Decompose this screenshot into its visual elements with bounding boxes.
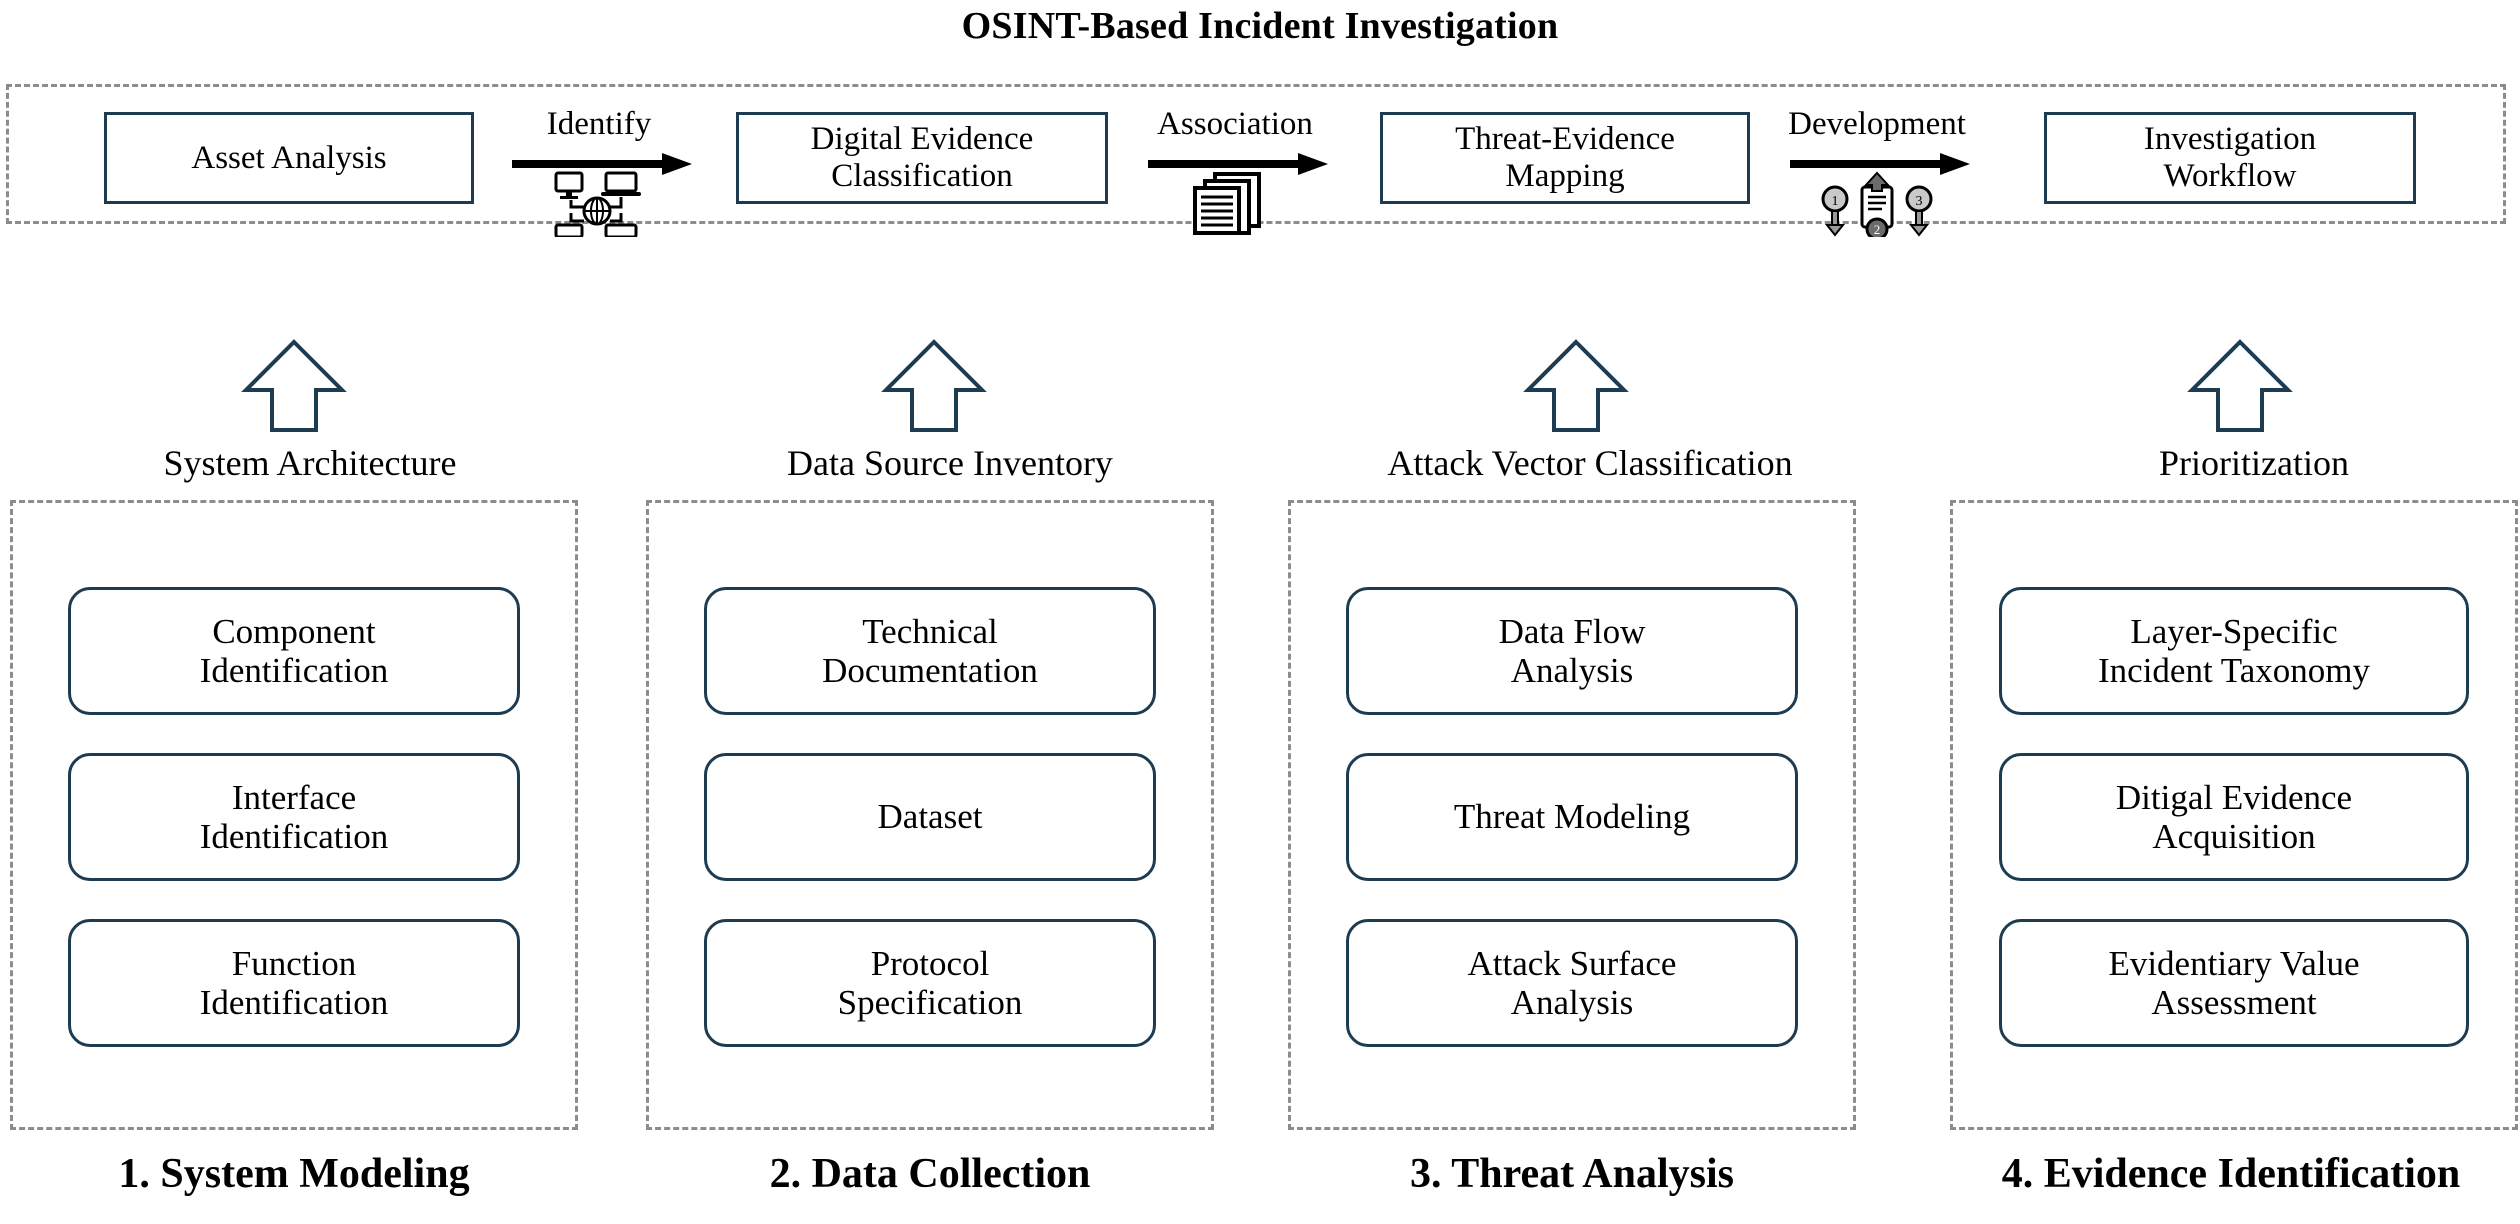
stage-item[interactable]: Dataset <box>704 753 1156 881</box>
page-title: OSINT-Based Incident Investigation <box>0 0 2520 52</box>
stage-column-threat-analysis: Data Flow Analysis Threat Modeling Attac… <box>1288 500 1856 1130</box>
stage-item-line1: Technical <box>862 612 998 651</box>
flow-box-line1: Threat-Evidence <box>1455 121 1675 157</box>
up-arrow-icon-prioritization <box>2186 338 2294 434</box>
stage-item-line1: Function <box>232 944 356 983</box>
stage-item[interactable]: Evidentiary Value Assessment <box>1999 919 2469 1047</box>
flow-box-line1: Investigation <box>2144 121 2316 157</box>
stage-caption-threat-analysis: 3. Threat Analysis <box>1288 1146 1856 1202</box>
stage-item-line1: Ditigal Evidence <box>2116 778 2352 817</box>
stage-item-line1: Interface <box>232 778 356 817</box>
flow-box-line2: Workflow <box>2164 158 2297 194</box>
stage-item[interactable]: Attack Surface Analysis <box>1346 919 1798 1047</box>
flow-box-line2: Mapping <box>1505 158 1624 194</box>
stage-item-line1: Dataset <box>878 797 983 836</box>
flow-box-asset-analysis[interactable]: Asset Analysis <box>104 112 474 204</box>
stage-column-system-modeling: Component Identification Interface Ident… <box>10 500 578 1130</box>
flow-box-line1: Asset Analysis <box>191 140 386 176</box>
stage-item-line1: Evidentiary Value <box>2108 944 2359 983</box>
stage-caption-data-collection: 2. Data Collection <box>646 1146 1214 1202</box>
stage-item[interactable]: Ditigal Evidence Acquisition <box>1999 753 2469 881</box>
connector-identify: Identify <box>484 108 714 237</box>
stage-column-data-collection: Technical Documentation Dataset Protocol… <box>646 500 1214 1130</box>
stage-item-line1: Attack Surface <box>1468 944 1677 983</box>
connector-label: Development <box>1762 108 1992 141</box>
stage-item[interactable]: Technical Documentation <box>704 587 1156 715</box>
stage-item[interactable]: Layer-Specific Incident Taxonomy <box>1999 587 2469 715</box>
arrow-label-system-architecture: System Architecture <box>20 440 600 486</box>
up-arrow-icon-data-source-inventory <box>880 338 988 434</box>
stage-item-line2: Identification <box>200 817 389 856</box>
svg-text:2: 2 <box>1874 222 1881 237</box>
stage-item-line2: Identification <box>200 983 389 1022</box>
stage-item-line2: Documentation <box>822 651 1038 690</box>
connector-association: Association <box>1120 108 1350 235</box>
connector-label: Identify <box>484 108 714 141</box>
stage-item[interactable]: Function Identification <box>68 919 520 1047</box>
svg-text:3: 3 <box>1916 194 1923 209</box>
connector-label: Association <box>1120 108 1350 141</box>
flow-box-digital-evidence-classification[interactable]: Digital Evidence Classification <box>736 112 1108 204</box>
stage-item-line2: Identification <box>200 651 389 690</box>
up-arrow-icon-system-architecture <box>240 338 348 434</box>
stage-item[interactable]: Interface Identification <box>68 753 520 881</box>
stage-item[interactable]: Protocol Specification <box>704 919 1156 1047</box>
stage-item[interactable]: Component Identification <box>68 587 520 715</box>
stage-item[interactable]: Data Flow Analysis <box>1346 587 1798 715</box>
stage-item-line1: Layer-Specific <box>2130 612 2337 651</box>
stage-item-line1: Component <box>212 612 375 651</box>
network-topology-icon <box>544 171 654 237</box>
flow-box-line1: Digital Evidence <box>811 121 1034 157</box>
stage-item-line2: Acquisition <box>2152 817 2315 856</box>
stage-item-line1: Protocol <box>871 944 990 983</box>
stage-item-line2: Analysis <box>1511 983 1634 1022</box>
numbered-workflow-icon: 1 2 3 <box>1818 171 1936 237</box>
stage-caption-system-modeling: 1. System Modeling <box>10 1146 578 1202</box>
stage-item-line2: Analysis <box>1511 651 1634 690</box>
flow-box-line2: Classification <box>831 158 1012 194</box>
svg-text:1: 1 <box>1832 194 1839 209</box>
flow-box-investigation-workflow[interactable]: Investigation Workflow <box>2044 112 2416 204</box>
flow-box-threat-evidence-mapping[interactable]: Threat-Evidence Mapping <box>1380 112 1750 204</box>
stage-item-line2: Specification <box>838 983 1023 1022</box>
stacked-documents-icon <box>1191 171 1279 235</box>
stage-item-line2: Assessment <box>2151 983 2316 1022</box>
up-arrow-icon-attack-vector-classification <box>1522 338 1630 434</box>
stage-item-line1: Threat Modeling <box>1454 797 1690 836</box>
arrow-label-prioritization: Prioritization <box>1964 440 2520 486</box>
stage-column-evidence-identification: Layer-Specific Incident Taxonomy Ditigal… <box>1950 500 2518 1130</box>
stage-item[interactable]: Threat Modeling <box>1346 753 1798 881</box>
stage-item-line2: Incident Taxonomy <box>2098 651 2370 690</box>
connector-development: Development 1 2 3 <box>1762 108 1992 237</box>
stage-caption-evidence-identification: 4. Evidence Identification <box>1942 1146 2520 1202</box>
arrow-label-data-source-inventory: Data Source Inventory <box>660 440 1240 486</box>
arrow-label-attack-vector-classification: Attack Vector Classification <box>1300 440 1880 486</box>
stage-item-line1: Data Flow <box>1499 612 1646 651</box>
